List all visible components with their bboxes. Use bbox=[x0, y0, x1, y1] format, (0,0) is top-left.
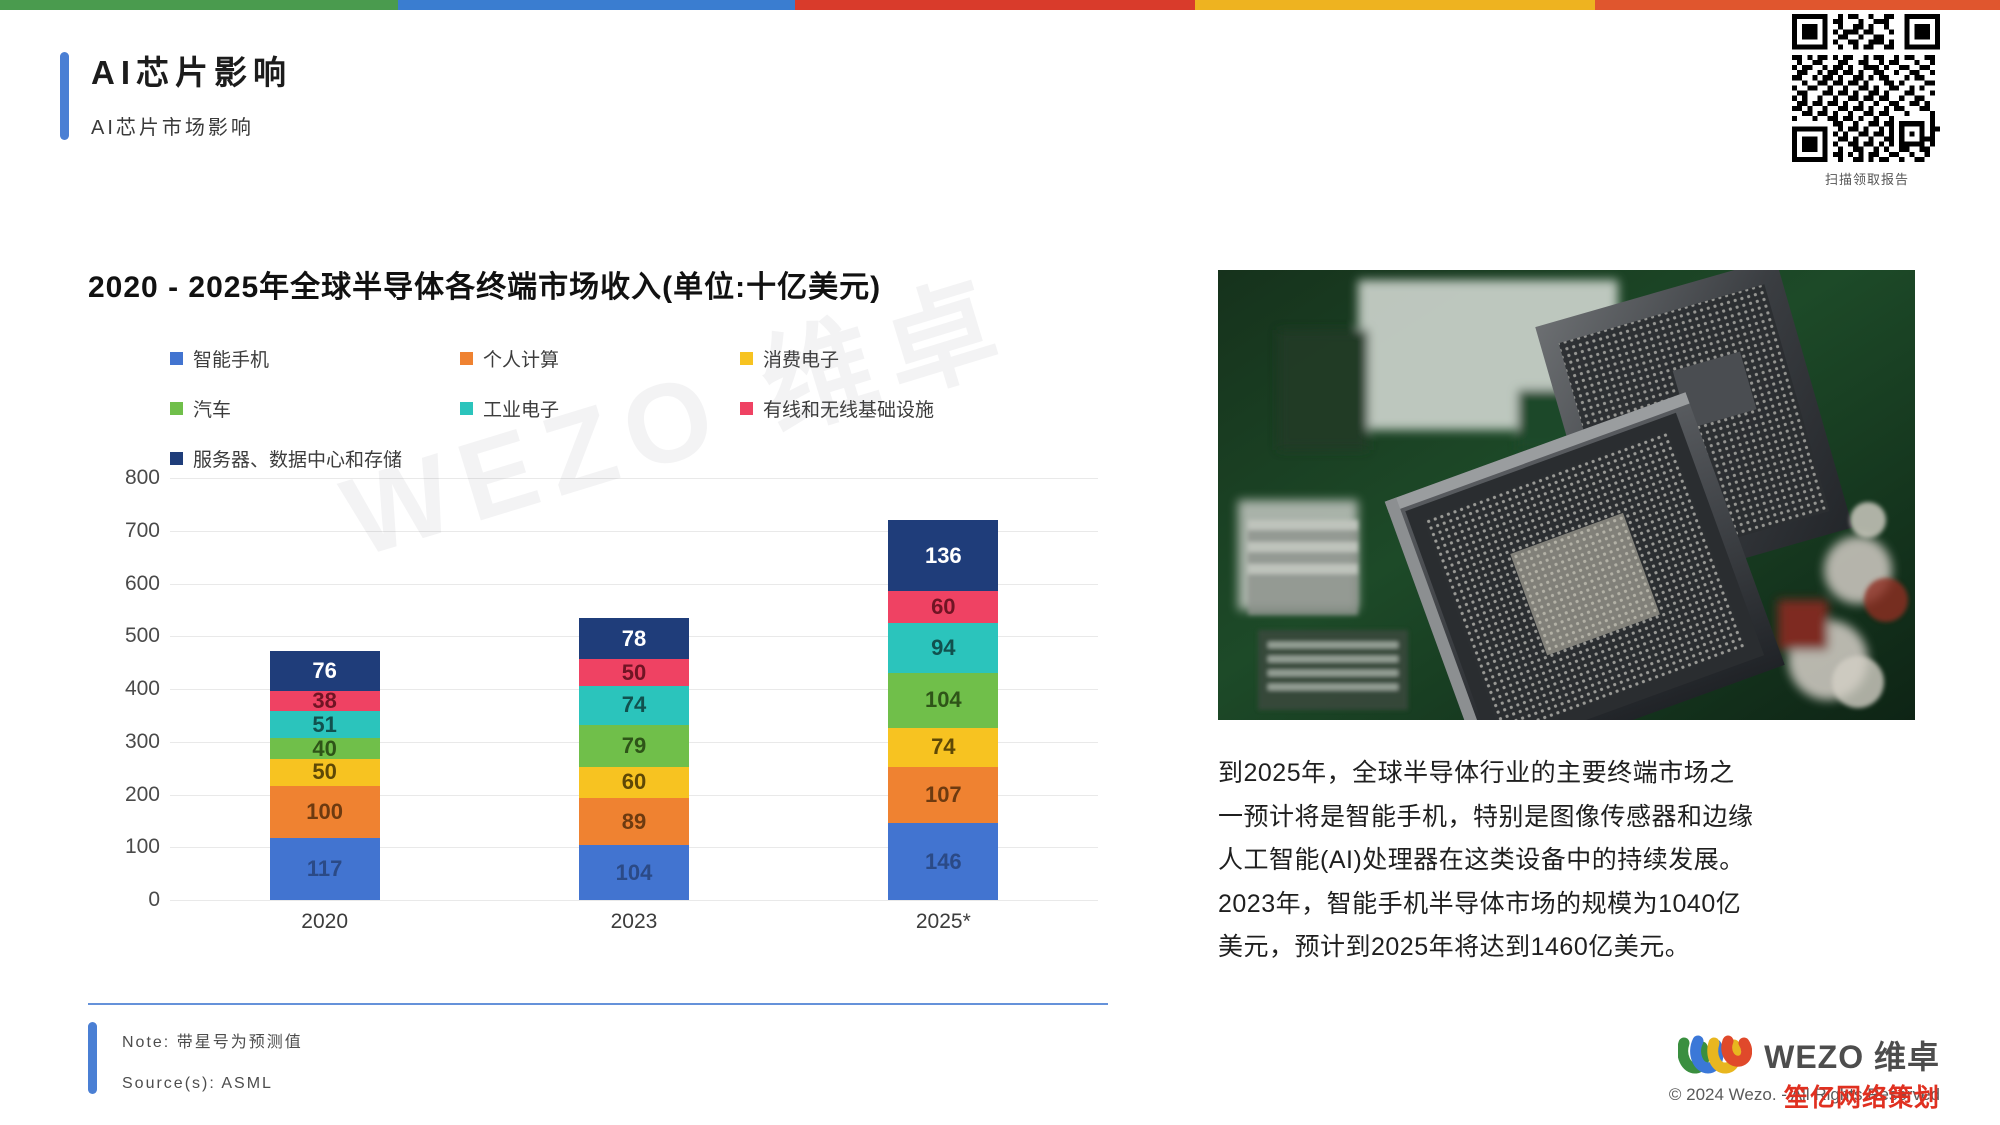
brand-logo: WEZO 维卓 bbox=[1678, 1032, 1940, 1078]
legend-label: 服务器、数据中心和存储 bbox=[193, 445, 402, 472]
y-axis-tick: 300 bbox=[125, 730, 160, 754]
y-axis-tick: 0 bbox=[148, 888, 160, 912]
paragraph-line-5: 美元，预计到2025年将达到1460亿美元。 bbox=[1218, 926, 1918, 970]
legend-item-4[interactable]: 工业电子 bbox=[460, 395, 740, 422]
legend-label: 消费电子 bbox=[763, 345, 839, 372]
y-axis-labels: 8007006005004003002001000 bbox=[88, 478, 160, 900]
y-axis-tick: 100 bbox=[125, 835, 160, 859]
bar-segment[interactable]: 60 bbox=[888, 591, 998, 623]
top-strip-green bbox=[0, 0, 398, 10]
paragraph-line-3: 人工智能(AI)处理器在这类设备中的持续发展。 bbox=[1218, 839, 1918, 883]
footer-note: Note: 带星号为预测值 bbox=[122, 1028, 303, 1052]
bar-column-2023[interactable]: 104896079745078 bbox=[479, 478, 788, 900]
bar-segment[interactable]: 117 bbox=[270, 838, 380, 900]
legend-swatch-icon bbox=[740, 352, 753, 365]
bar-segment[interactable]: 104 bbox=[579, 845, 689, 900]
bar-segment[interactable]: 76 bbox=[270, 651, 380, 691]
legend-item-5[interactable]: 有线和无线基础设施 bbox=[740, 395, 1040, 422]
brand-name: WEZO 维卓 bbox=[1764, 1032, 1940, 1078]
y-axis-tick: 200 bbox=[125, 783, 160, 807]
legend-row: 汽车工业电子有线和无线基础设施 bbox=[170, 395, 1050, 422]
footer-source: Source(s): ASML bbox=[122, 1075, 273, 1093]
chart-legend: 智能手机个人计算消费电子汽车工业电子有线和无线基础设施服务器、数据中心和存储 bbox=[170, 345, 1050, 495]
footer-accent-bar bbox=[88, 1022, 97, 1094]
x-axis-tick: 2020 bbox=[170, 910, 479, 934]
qr-code-icon[interactable] bbox=[1792, 14, 1940, 162]
legend-swatch-icon bbox=[170, 352, 183, 365]
legend-swatch-icon bbox=[740, 402, 753, 415]
header-accent-bar bbox=[60, 52, 69, 140]
description-paragraph: 到2025年，全球半导体行业的主要终端市场之 一预计将是智能手机，特别是图像传感… bbox=[1218, 752, 1918, 970]
bar-segment[interactable]: 60 bbox=[579, 767, 689, 799]
circuit-board-photo bbox=[1218, 270, 1915, 720]
legend-row: 智能手机个人计算消费电子 bbox=[170, 345, 1050, 372]
y-axis-tick: 400 bbox=[125, 677, 160, 701]
bar-segment[interactable]: 136 bbox=[888, 520, 998, 592]
legend-row: 服务器、数据中心和存储 bbox=[170, 445, 1050, 472]
wezo-logo-icon bbox=[1678, 1035, 1752, 1075]
bar-stack: 146107741049460136 bbox=[888, 520, 998, 900]
bar-segment[interactable]: 104 bbox=[888, 673, 998, 728]
legend-label: 工业电子 bbox=[483, 395, 559, 422]
slide-page: AI芯片影响 AI芯片市场影响 bbox=[0, 0, 2000, 1125]
bar-segment[interactable]: 50 bbox=[579, 659, 689, 685]
top-strip-yellow bbox=[1195, 0, 1595, 10]
x-axis-tick: 2023 bbox=[479, 910, 788, 934]
bar-segment[interactable]: 74 bbox=[888, 728, 998, 767]
legend-swatch-icon bbox=[170, 402, 183, 415]
legend-item-0[interactable]: 智能手机 bbox=[170, 345, 460, 372]
watermark-stamp: 笙亿网络策划 bbox=[1784, 1078, 1940, 1114]
bar-segment[interactable]: 94 bbox=[888, 623, 998, 673]
legend-item-3[interactable]: 汽车 bbox=[170, 395, 460, 422]
bar-segment[interactable]: 38 bbox=[270, 691, 380, 711]
legend-swatch-icon bbox=[460, 402, 473, 415]
x-axis-tick: 2025* bbox=[789, 910, 1098, 934]
bar-segment[interactable]: 74 bbox=[579, 686, 689, 725]
cpu-socket-image bbox=[1218, 270, 1915, 720]
bar-segment[interactable]: 146 bbox=[888, 823, 998, 900]
bar-segment[interactable]: 100 bbox=[270, 786, 380, 839]
legend-label: 个人计算 bbox=[483, 345, 559, 372]
legend-swatch-icon bbox=[460, 352, 473, 365]
gridline bbox=[170, 900, 1098, 901]
y-axis-tick: 500 bbox=[125, 624, 160, 648]
bar-segment[interactable]: 78 bbox=[579, 618, 689, 659]
top-strip-orange bbox=[1595, 0, 2000, 10]
paragraph-line-4: 2023年，智能手机半导体市场的规模为1040亿 bbox=[1218, 883, 1918, 927]
top-color-strip bbox=[0, 0, 2000, 10]
legend-item-1[interactable]: 个人计算 bbox=[460, 345, 740, 372]
legend-label: 汽车 bbox=[193, 395, 231, 422]
footer-divider bbox=[88, 1003, 1108, 1005]
page-title: AI芯片影响 bbox=[91, 52, 292, 93]
y-axis-tick: 700 bbox=[125, 519, 160, 543]
bar-segment[interactable]: 89 bbox=[579, 798, 689, 845]
legend-item-6[interactable]: 服务器、数据中心和存储 bbox=[170, 445, 460, 472]
x-axis-labels: 202020232025* bbox=[170, 910, 1098, 934]
legend-item-2[interactable]: 消费电子 bbox=[740, 345, 1040, 372]
bar-column-2025[interactable]: 146107741049460136 bbox=[789, 478, 1098, 900]
chart-bars: 1171005040513876104896079745078146107741… bbox=[170, 478, 1098, 900]
page-header: AI芯片影响 AI芯片市场影响 bbox=[60, 52, 292, 140]
page-subtitle: AI芯片市场影响 bbox=[91, 111, 292, 140]
bar-segment[interactable]: 79 bbox=[579, 725, 689, 767]
qr-code-block[interactable]: 扫描领取报告 bbox=[1792, 14, 1942, 188]
bar-segment[interactable]: 51 bbox=[270, 711, 380, 738]
legend-label: 有线和无线基础设施 bbox=[763, 395, 934, 422]
top-strip-blue bbox=[398, 0, 795, 10]
qr-caption: 扫描领取报告 bbox=[1792, 169, 1942, 188]
chart-plot-area: 8007006005004003002001000 11710050405138… bbox=[88, 478, 1098, 938]
y-axis-tick: 600 bbox=[125, 572, 160, 596]
legend-swatch-icon bbox=[170, 452, 183, 465]
bar-segment[interactable]: 50 bbox=[270, 759, 380, 785]
chart-title: 2020 - 2025年全球半导体各终端市场收入(单位:十亿美元) bbox=[88, 262, 881, 306]
top-strip-red bbox=[795, 0, 1195, 10]
paragraph-line-2: 一预计将是智能手机，特别是图像传感器和边缘 bbox=[1218, 796, 1918, 840]
bar-stack: 104896079745078 bbox=[579, 618, 689, 900]
paragraph-line-1: 到2025年，全球半导体行业的主要终端市场之 bbox=[1218, 752, 1918, 796]
bar-stack: 1171005040513876 bbox=[270, 651, 380, 900]
bar-segment[interactable]: 40 bbox=[270, 738, 380, 759]
bar-segment[interactable]: 107 bbox=[888, 767, 998, 823]
y-axis-tick: 800 bbox=[125, 466, 160, 490]
bar-column-2020[interactable]: 1171005040513876 bbox=[170, 478, 479, 900]
legend-label: 智能手机 bbox=[193, 345, 269, 372]
